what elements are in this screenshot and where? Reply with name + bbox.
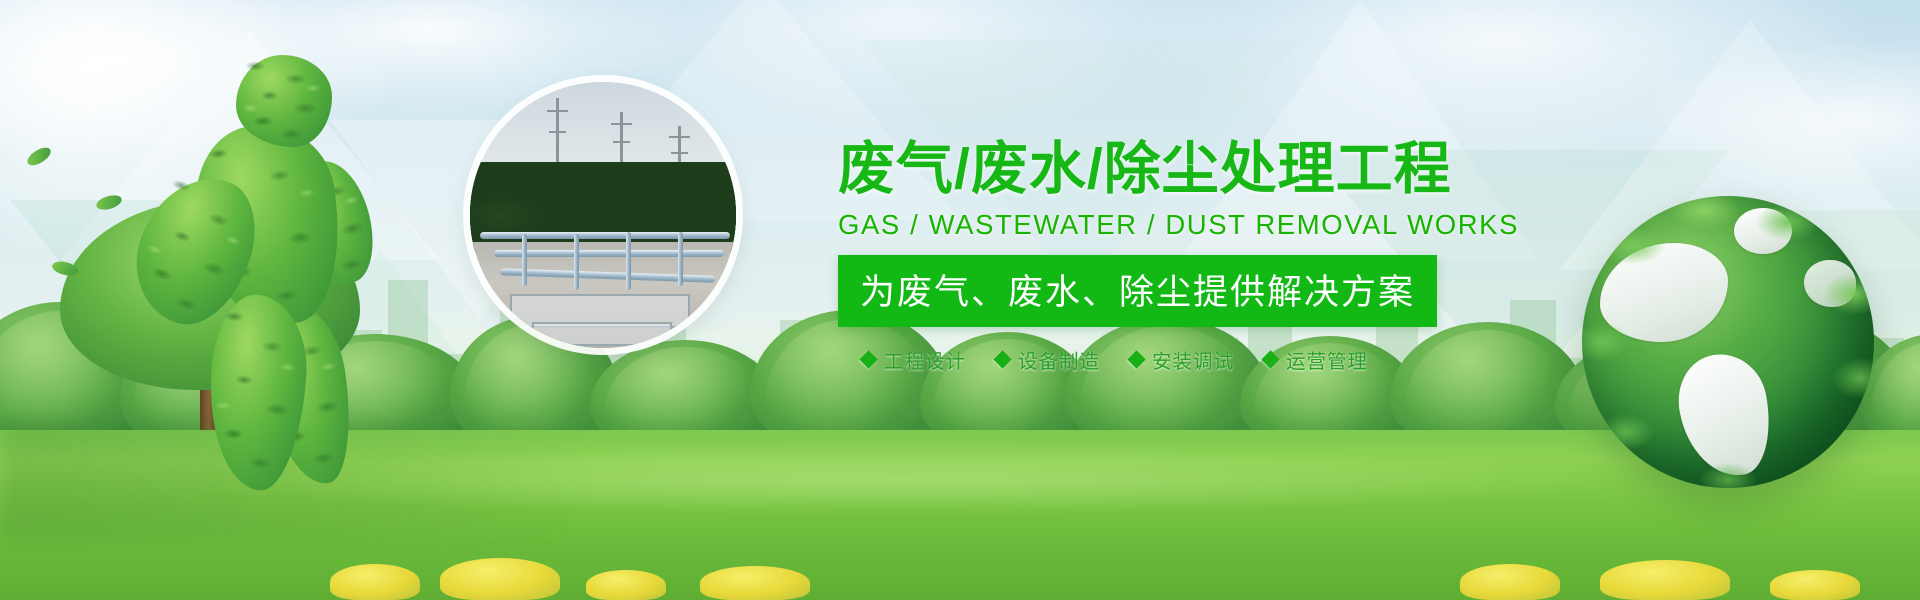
plant-pipe-support	[522, 234, 527, 286]
plant-pipe	[494, 250, 724, 257]
page-title: 废气/废水/除尘处理工程	[838, 140, 1538, 198]
diamond-bullet-icon	[993, 350, 1011, 368]
plant-pipe-support	[678, 232, 683, 286]
leaf-person-figure	[140, 55, 370, 485]
yellow-flower-cluster	[440, 558, 560, 600]
plant-pipe-support	[574, 234, 579, 290]
wastewater-plant-photo	[470, 82, 736, 348]
yellow-flower-cluster	[330, 564, 420, 600]
treatment-basin	[532, 322, 672, 346]
yellow-flower-cluster	[1600, 560, 1730, 600]
globe-leaf-vines	[1582, 196, 1874, 488]
feature-label: 运营管理	[1286, 345, 1368, 374]
yellow-flower-cluster	[1460, 564, 1560, 600]
diamond-bullet-icon	[1127, 350, 1145, 368]
feature-label: 安装调试	[1152, 345, 1234, 374]
diamond-bullet-icon	[859, 350, 877, 368]
grass-shadow	[0, 420, 900, 540]
plant-pipe-support	[626, 232, 631, 290]
plant-pipe	[480, 232, 730, 239]
feature-list: 工程设计 设备制造 安装调试 运营管理	[838, 345, 1538, 374]
feature-item-operation-management: 运营管理	[1264, 345, 1368, 374]
yellow-flower-cluster	[1770, 570, 1860, 600]
yellow-flower-cluster	[700, 566, 810, 600]
diamond-bullet-icon	[1261, 350, 1279, 368]
tagline-bar: 为废气、废水、除尘提供解决方案	[838, 255, 1437, 327]
eco-engineering-banner: 废气/废水/除尘处理工程 GAS / WASTEWATER / DUST REM…	[0, 0, 1920, 600]
feature-label: 设备制造	[1018, 345, 1100, 374]
banner-text-block: 废气/废水/除尘处理工程 GAS / WASTEWATER / DUST REM…	[838, 140, 1538, 374]
english-subtitle: GAS / WASTEWATER / DUST REMOVAL WORKS	[838, 209, 1538, 241]
feature-item-equipment-manufacturing: 设备制造	[996, 345, 1100, 374]
leaf-person-head	[236, 55, 332, 147]
feature-label: 工程设计	[884, 345, 966, 374]
feature-item-engineering-design: 工程设计	[862, 345, 966, 374]
feature-item-installation-commissioning: 安装调试	[1130, 345, 1234, 374]
green-globe	[1582, 196, 1874, 488]
yellow-flower-cluster	[586, 570, 666, 600]
